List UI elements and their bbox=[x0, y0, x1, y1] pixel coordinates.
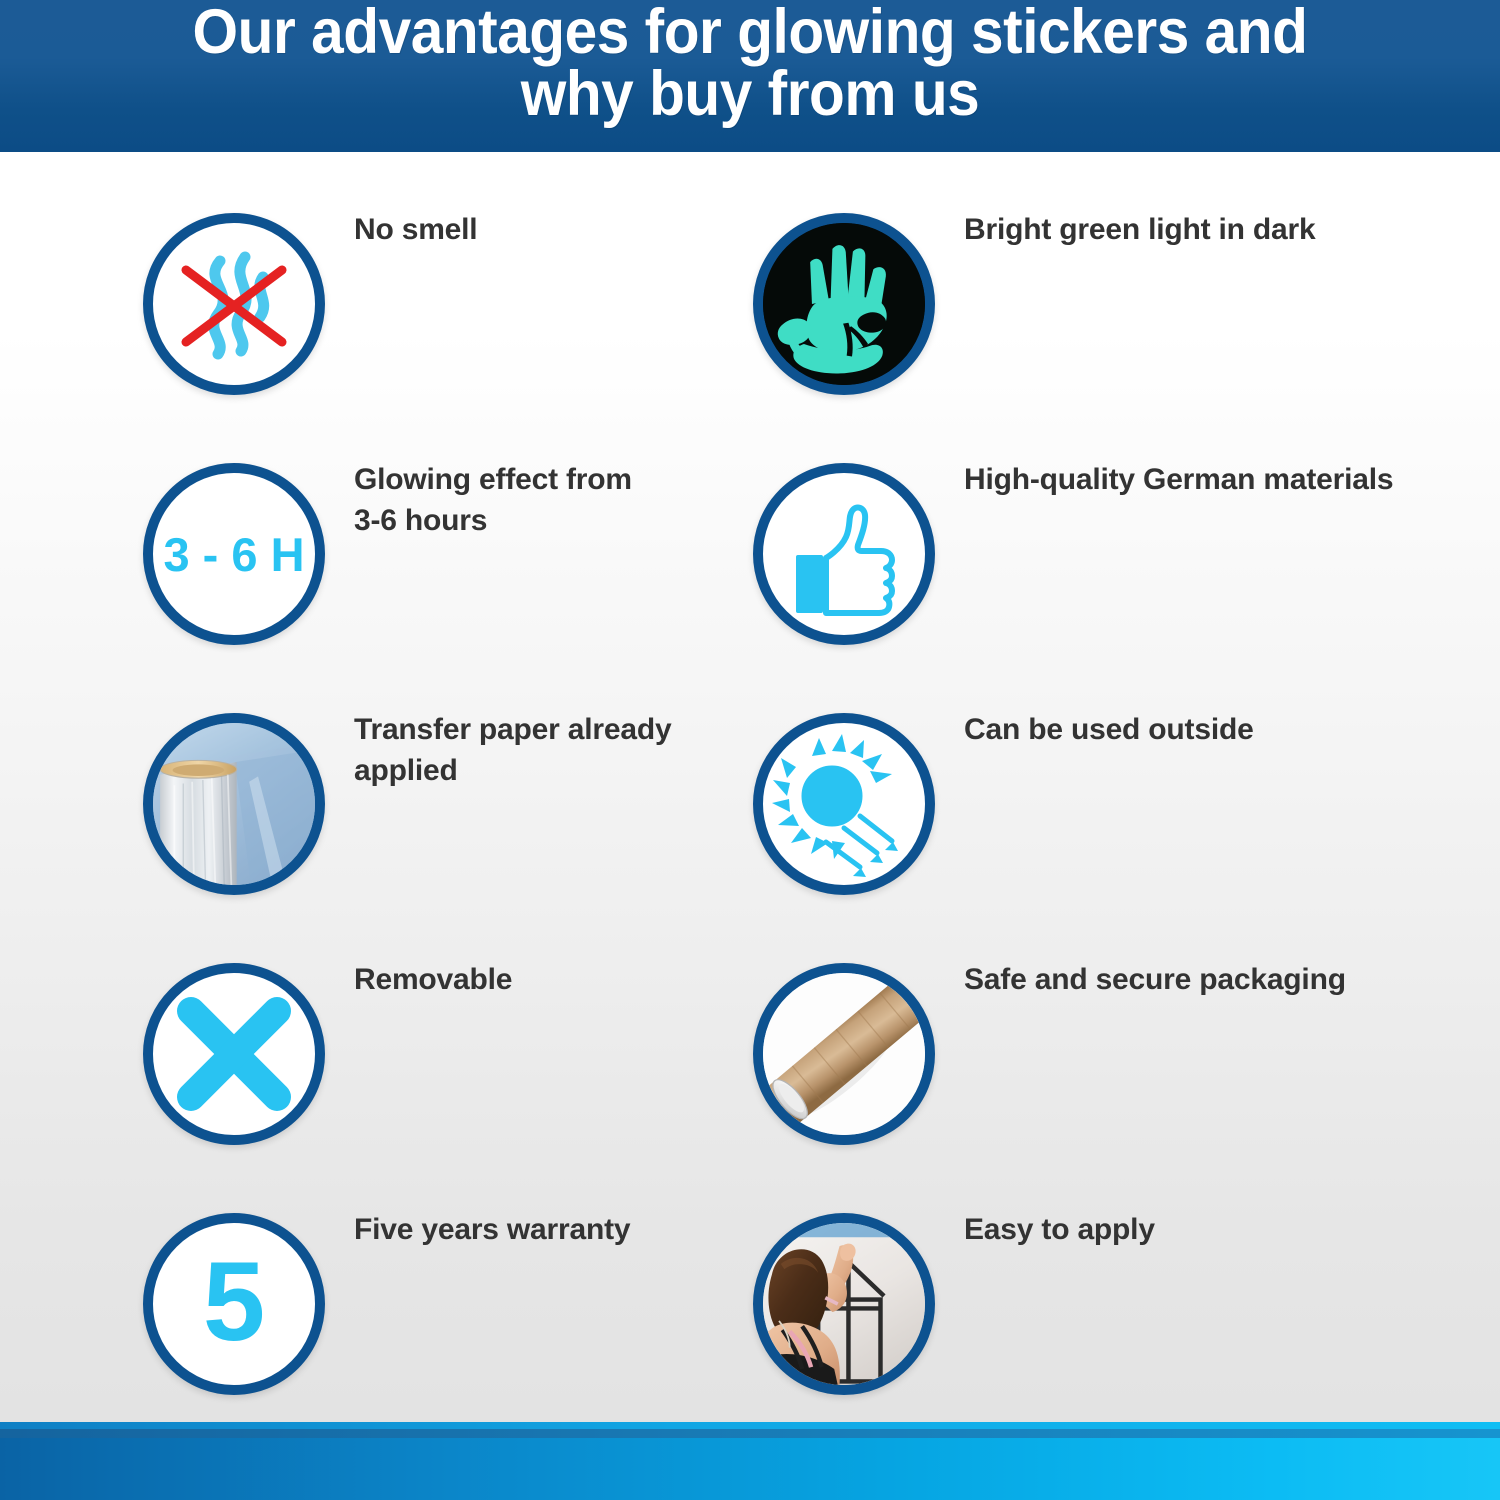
warranty-badge: 5 bbox=[143, 1213, 325, 1395]
feature-label: Glowing effect from 3-6 hours bbox=[354, 459, 632, 542]
feature-row: No smell bbox=[0, 205, 1500, 455]
feature-label-line: Safe and secure packaging bbox=[964, 959, 1346, 1000]
feature-label: Five years warranty bbox=[354, 1209, 630, 1250]
feature-item-easy-to-apply: Easy to apply bbox=[753, 1205, 1155, 1395]
page-title: Our advantages for glowing stickers and … bbox=[62, 2, 1438, 125]
feature-item-no-smell: No smell bbox=[143, 205, 477, 395]
features-grid: No smell bbox=[0, 205, 1500, 1455]
feature-label: Bright green light in dark bbox=[964, 209, 1316, 250]
feature-item-glowing-duration: 3 - 6 H Glowing effect from 3-6 hours bbox=[143, 455, 632, 645]
feature-label-line: 3-6 hours bbox=[354, 500, 632, 541]
feature-item-five-years-warranty: 5 Five years warranty bbox=[143, 1205, 630, 1395]
feature-label-line: Removable bbox=[354, 959, 512, 1000]
footer-accent-line bbox=[0, 1422, 1500, 1429]
thumbs-up-badge bbox=[753, 463, 935, 645]
duration-text: 3 - 6 H bbox=[163, 531, 304, 578]
number-five-icon: 5 bbox=[153, 1223, 315, 1385]
glowing-handprint-badge bbox=[753, 213, 935, 395]
feature-item-removable: Removable bbox=[143, 955, 512, 1145]
page-title-line-1: Our advantages for glowing stickers and bbox=[193, 0, 1308, 67]
feature-label: Safe and secure packaging bbox=[964, 959, 1346, 1000]
feature-label-line: No smell bbox=[354, 209, 477, 250]
cross-x-icon bbox=[153, 973, 315, 1135]
sun-with-rays-icon bbox=[763, 723, 925, 885]
feature-label: Can be used outside bbox=[964, 709, 1254, 750]
woman-applying-decal-photo bbox=[763, 1223, 925, 1385]
feature-label: High-quality German materials bbox=[964, 459, 1384, 500]
feature-label: Easy to apply bbox=[964, 1209, 1155, 1250]
feature-label: No smell bbox=[354, 209, 477, 250]
transfer-paper-badge bbox=[143, 713, 325, 895]
transfer-paper-roll-photo bbox=[153, 723, 315, 885]
feature-label-line: Easy to apply bbox=[964, 1209, 1155, 1250]
feature-item-outdoor-use: Can be used outside bbox=[753, 705, 1254, 895]
warranty-number: 5 bbox=[203, 1246, 265, 1358]
feature-label-line: applied bbox=[354, 750, 671, 791]
outdoor-use-badge bbox=[753, 713, 935, 895]
duration-text-icon: 3 - 6 H bbox=[153, 473, 315, 635]
feature-label-line: Glowing effect from bbox=[354, 459, 632, 500]
feature-label: Transfer paper already applied bbox=[354, 709, 671, 792]
feature-row: Removable bbox=[0, 955, 1500, 1205]
feature-item-transfer-paper: Transfer paper already applied bbox=[143, 705, 671, 895]
feature-label-line: Five years warranty bbox=[354, 1209, 630, 1250]
feature-row: Transfer paper already applied bbox=[0, 705, 1500, 955]
feature-label-line: Bright green light in dark bbox=[964, 209, 1316, 250]
packaging-badge bbox=[753, 963, 935, 1145]
feature-label-line: Can be used outside bbox=[964, 709, 1254, 750]
feature-label-line: High-quality German materials bbox=[964, 459, 1384, 500]
no-smell-badge bbox=[143, 213, 325, 395]
header-banner: Our advantages for glowing stickers and … bbox=[0, 0, 1500, 152]
thumbs-up-icon bbox=[763, 473, 925, 635]
duration-badge: 3 - 6 H bbox=[143, 463, 325, 645]
glowing-handprint-icon bbox=[763, 223, 925, 385]
feature-row: 3 - 6 H Glowing effect from 3-6 hours Hi… bbox=[0, 455, 1500, 705]
footer-shade-line bbox=[0, 1429, 1500, 1438]
footer-band bbox=[0, 1438, 1500, 1500]
no-smell-icon bbox=[153, 223, 315, 385]
feature-item-bright-green-light: Bright green light in dark bbox=[753, 205, 1316, 395]
feature-item-safe-packaging: Safe and secure packaging bbox=[753, 955, 1346, 1145]
feature-row: 5 Five years warranty bbox=[0, 1205, 1500, 1455]
feature-label-line: Transfer paper already bbox=[354, 709, 671, 750]
page-title-line-2: why buy from us bbox=[521, 59, 980, 129]
feature-item-german-materials: High-quality German materials bbox=[753, 455, 1384, 645]
feature-label: Removable bbox=[354, 959, 512, 1000]
easy-apply-badge bbox=[753, 1213, 935, 1395]
mailing-tube-photo bbox=[763, 973, 925, 1135]
removable-badge bbox=[143, 963, 325, 1145]
